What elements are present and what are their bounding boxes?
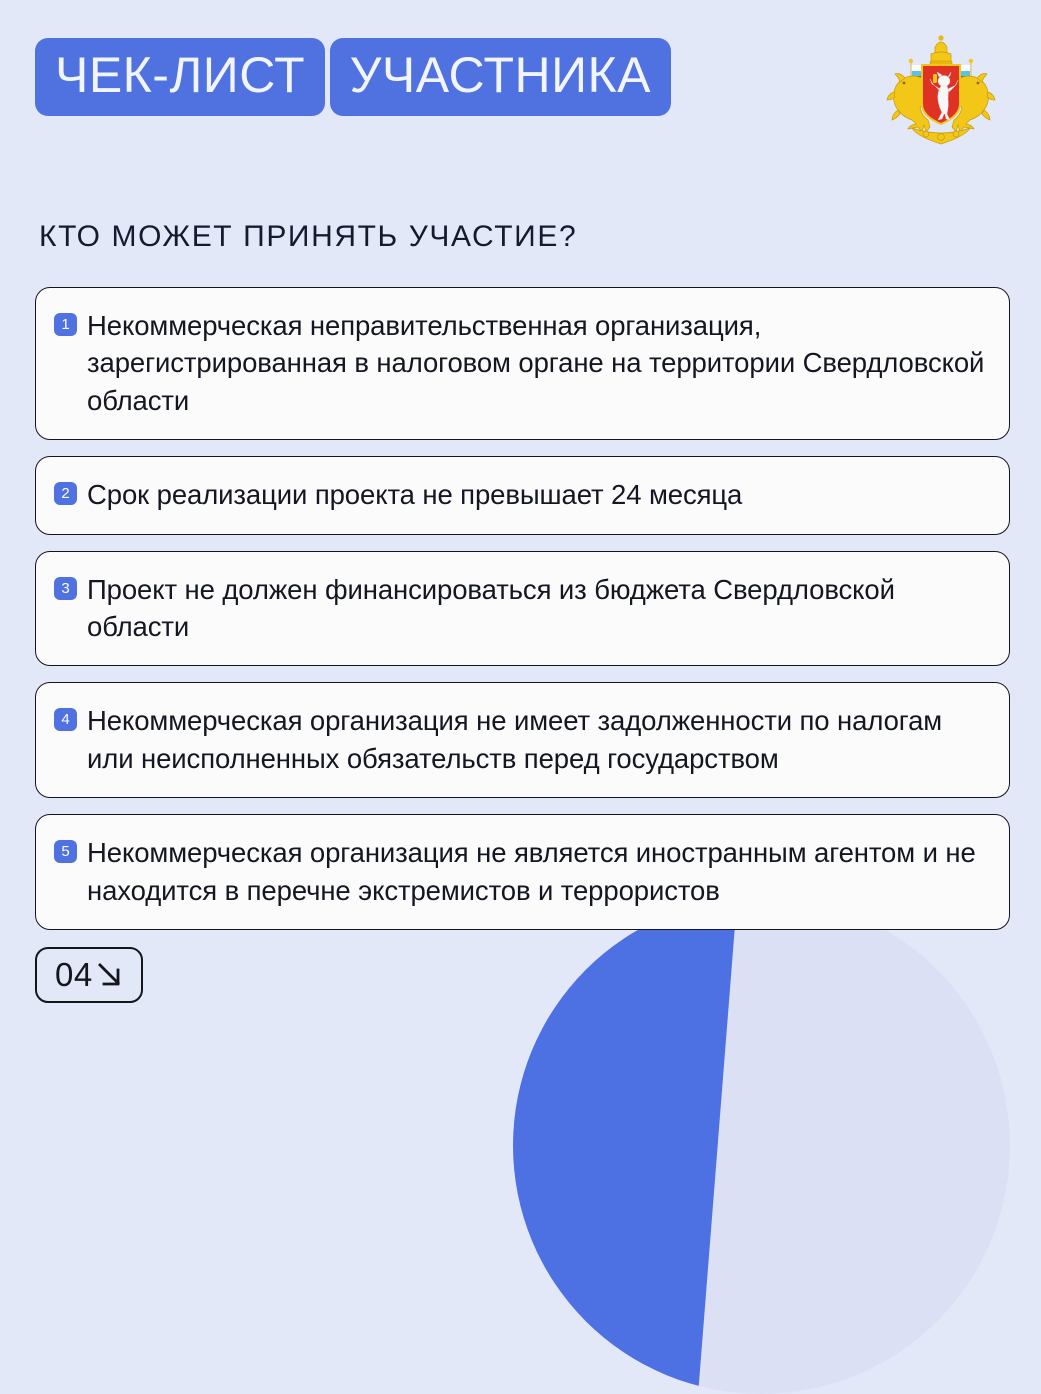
checklist-item: 2 Срок реализации проекта не превышает 2… (35, 456, 1010, 534)
checklist-item: 5 Некоммерческая организация не является… (35, 814, 1010, 930)
checklist-item: 1 Некоммерческая неправительственная орг… (35, 287, 1010, 440)
checklist-item-number: 3 (54, 577, 77, 600)
page-number-badge: 04 (35, 947, 143, 1003)
arrow-down-right-icon (95, 961, 123, 989)
section-subtitle: КТО МОЖЕТ ПРИНЯТЬ УЧАСТИЕ? (39, 222, 1010, 252)
checklist: 1 Некоммерческая неправительственная орг… (35, 287, 1010, 930)
page-header: ЧЕК-ЛИСТ УЧАСТНИКА (35, 32, 1010, 200)
checklist-item-text: Некоммерческая неправительственная орган… (87, 307, 985, 419)
checklist-item-text: Некоммерческая организация не имеет задо… (87, 702, 985, 777)
checklist-item-text: Некоммерческая организация не является и… (87, 834, 985, 909)
checklist-item-number: 4 (54, 708, 77, 731)
checklist-item-number: 5 (54, 840, 77, 863)
sverdlovsk-oblast-coat-of-arms-icon (886, 32, 996, 152)
checklist-item-number: 2 (54, 482, 77, 505)
page-title-line-1: ЧЕК-ЛИСТ (35, 38, 325, 116)
checklist-page: ЧЕК-ЛИСТ УЧАСТНИКА (0, 0, 1041, 1041)
checklist-item: 4 Некоммерческая организация не имеет за… (35, 682, 1010, 798)
checklist-item-text: Срок реализации проекта не превышает 24 … (87, 476, 742, 513)
checklist-item-text: Проект не должен финансироваться из бюдж… (87, 571, 985, 646)
page-title-line-2: УЧАСТНИКА (330, 38, 671, 116)
page-title: ЧЕК-ЛИСТ УЧАСТНИКА (35, 32, 671, 116)
checklist-item-number: 1 (54, 313, 77, 336)
checklist-item: 3 Проект не должен финансироваться из бю… (35, 551, 1010, 667)
page-number-label: 04 (55, 958, 93, 991)
